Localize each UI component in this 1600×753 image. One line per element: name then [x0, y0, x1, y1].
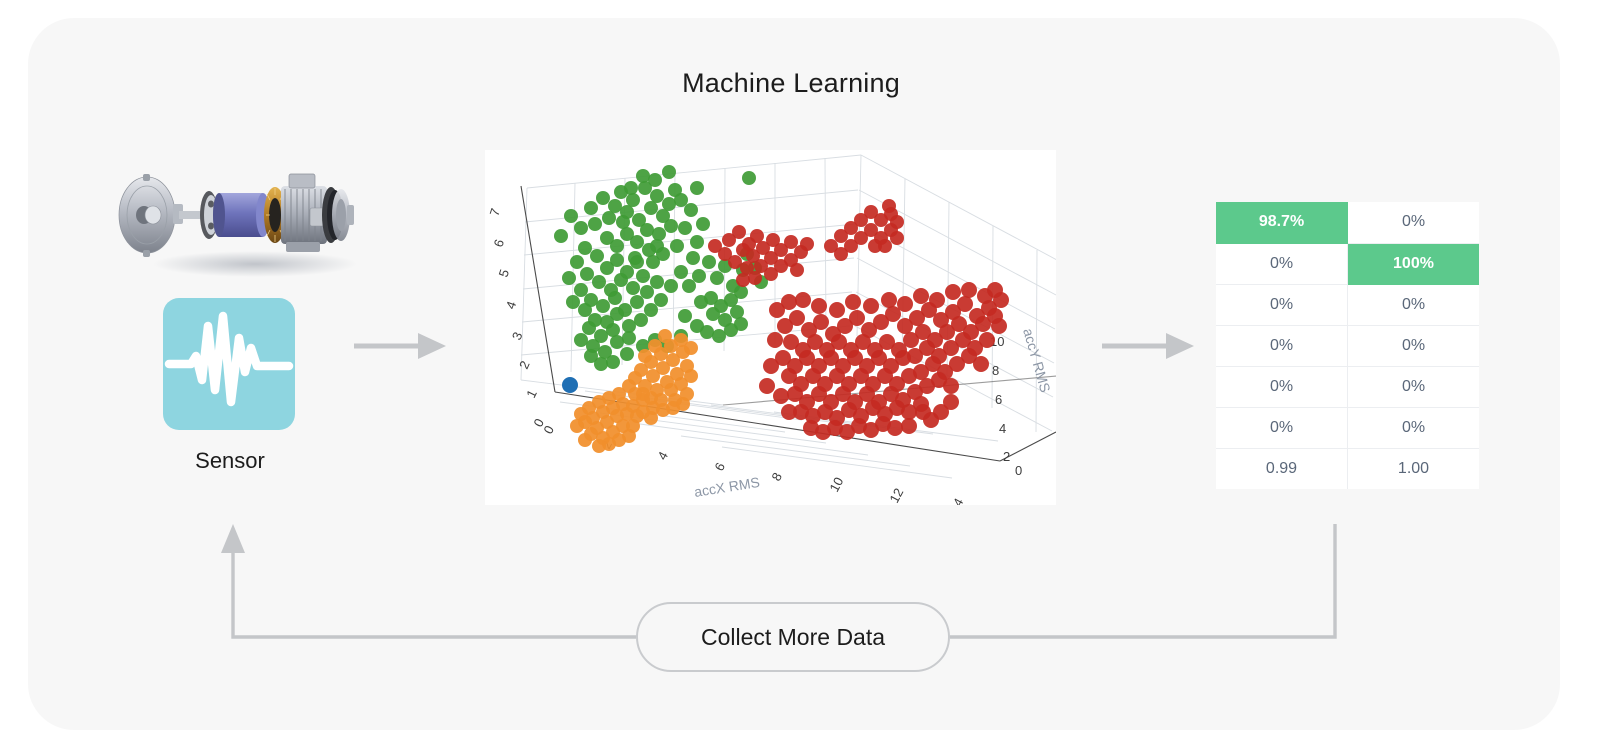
- matrix-cell: 0%: [1348, 366, 1480, 407]
- arrow-right-icon-2: [1100, 325, 1196, 372]
- sensor-icon: [163, 298, 295, 430]
- collect-more-data-label: Collect More Data: [701, 624, 885, 651]
- confusion-matrix-body: 98.7% 0% 0% 100% 0% 0% 0% 0% 0% 0% 0% 0%…: [1216, 202, 1479, 489]
- table-row: 0% 0%: [1216, 325, 1479, 366]
- matrix-cell: 0%: [1348, 325, 1480, 366]
- motor-icon: [105, 160, 365, 280]
- matrix-cell: 98.7%: [1216, 202, 1348, 243]
- matrix-cell: 1.00: [1348, 448, 1480, 489]
- matrix-cell: 100%: [1348, 243, 1480, 284]
- y-tick-2: 2: [1003, 449, 1010, 464]
- waveform-icon: [163, 298, 295, 430]
- table-row: 0% 0%: [1216, 366, 1479, 407]
- confusion-matrix: 98.7% 0% 0% 100% 0% 0% 0% 0% 0% 0% 0% 0%…: [1216, 202, 1479, 489]
- motor-image: [105, 160, 365, 280]
- matrix-cell: 0.99: [1216, 448, 1348, 489]
- matrix-cell: 0%: [1348, 407, 1480, 448]
- y-tick-6: 6: [995, 392, 1002, 407]
- y-tick-0: 0: [1015, 463, 1022, 478]
- sensor-label: Sensor: [163, 448, 297, 474]
- table-row: 0% 0%: [1216, 284, 1479, 325]
- matrix-cell: 0%: [1216, 366, 1348, 407]
- collect-more-data-button[interactable]: Collect More Data: [636, 602, 950, 672]
- table-row: 98.7% 0%: [1216, 202, 1479, 243]
- y-tick-8: 8: [992, 363, 999, 378]
- table-row: 0% 100%: [1216, 243, 1479, 284]
- matrix-cell: 0%: [1216, 325, 1348, 366]
- table-row: 0% 0%: [1216, 407, 1479, 448]
- y-tick-4: 4: [999, 421, 1006, 436]
- matrix-cell: 0%: [1216, 243, 1348, 284]
- matrix-cell: 0%: [1216, 407, 1348, 448]
- matrix-cell: 0%: [1216, 284, 1348, 325]
- table-row: 0.99 1.00: [1216, 448, 1479, 489]
- series-cluster-blue: [562, 377, 578, 393]
- page-title-text: Machine Learning: [682, 68, 900, 98]
- sensor-block: Sensor: [163, 298, 297, 474]
- matrix-cell: 0%: [1348, 284, 1480, 325]
- scatter-plot-3d: 7 6 5 4 3 2 1 0 0 2 4 6 8 10 12 14 10 8 …: [485, 150, 1056, 505]
- arrow-right-icon-1: [352, 325, 448, 372]
- matrix-cell: 0%: [1348, 202, 1480, 243]
- page-title: Machine Learning: [0, 68, 1600, 99]
- scatter-plot-svg: 7 6 5 4 3 2 1 0 0 2 4 6 8 10 12 14 10 8 …: [485, 150, 1056, 505]
